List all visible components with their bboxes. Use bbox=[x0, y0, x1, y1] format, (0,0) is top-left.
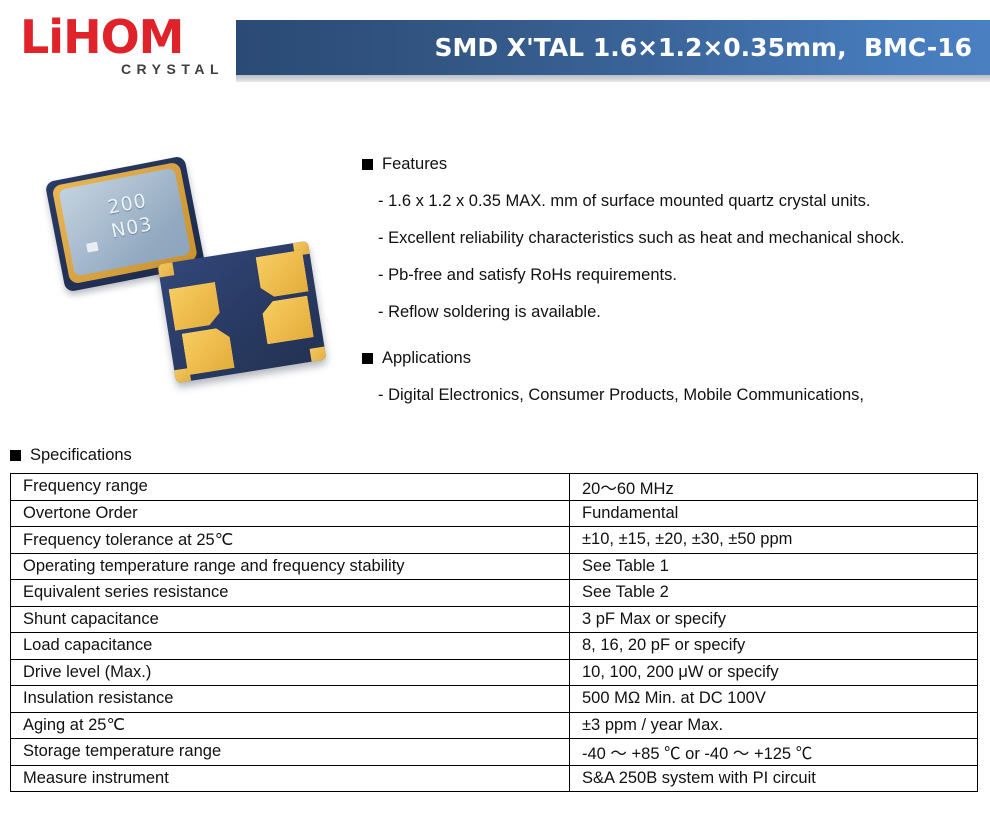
specifications-heading-label: Specifications bbox=[30, 446, 132, 465]
spec-label: Shunt capacitance bbox=[11, 606, 570, 633]
list-item: - Reflow soldering is available. bbox=[362, 303, 987, 322]
title-banner: SMD X'TAL 1.6×1.2×0.35mm, BMC-16 bbox=[236, 20, 990, 75]
list-item: - 1.6 x 1.2 x 0.35 MAX. mm of surface mo… bbox=[362, 192, 987, 211]
specifications-table: Frequency range 20～60 MHz Overtone Order… bbox=[10, 473, 978, 792]
spec-label: Load capacitance bbox=[11, 633, 570, 660]
applications-heading-label: Applications bbox=[382, 349, 471, 368]
square-bullet-icon bbox=[362, 159, 373, 170]
table-row: Frequency tolerance at 25℃ ±10, ±15, ±20… bbox=[11, 527, 978, 554]
spec-label: Insulation resistance bbox=[11, 686, 570, 713]
spec-value: ±3 ppm / year Max. bbox=[570, 712, 978, 739]
list-item: - Pb-free and satisfy RoHs requirements. bbox=[362, 266, 987, 285]
spec-label: Equivalent series resistance bbox=[11, 580, 570, 607]
features-heading-label: Features bbox=[382, 155, 447, 174]
features-list: - 1.6 x 1.2 x 0.35 MAX. mm of surface mo… bbox=[362, 192, 987, 322]
spec-label: Frequency range bbox=[11, 474, 570, 501]
spec-value: 20～60 MHz bbox=[570, 474, 978, 501]
spec-label: Aging at 25℃ bbox=[11, 712, 570, 739]
table-row: Overtone Order Fundamental bbox=[11, 500, 978, 527]
logo-wordmark: LiHOM bbox=[14, 14, 226, 60]
specifications-heading: Specifications bbox=[10, 446, 132, 465]
spec-value: 10, 100, 200 μW or specify bbox=[570, 659, 978, 686]
spec-label: Storage temperature range bbox=[11, 739, 570, 766]
page-title: SMD X'TAL 1.6×1.2×0.35mm, BMC-16 bbox=[434, 33, 972, 62]
spec-label: Drive level (Max.) bbox=[11, 659, 570, 686]
page-header: LiHOM CRYSTAL SMD X'TAL 1.6×1.2×0.35mm, … bbox=[0, 0, 990, 95]
table-row: Shunt capacitance 3 pF Max or specify bbox=[11, 606, 978, 633]
table-row: Insulation resistance 500 MΩ Min. at DC … bbox=[11, 686, 978, 713]
square-bullet-icon bbox=[10, 450, 21, 461]
table-row: Drive level (Max.) 10, 100, 200 μW or sp… bbox=[11, 659, 978, 686]
crystal-package-bottom-view bbox=[158, 241, 327, 383]
spec-label: Overtone Order bbox=[11, 500, 570, 527]
spec-value: Fundamental bbox=[570, 500, 978, 527]
castellation-top-left bbox=[158, 262, 175, 277]
company-logo: LiHOM CRYSTAL bbox=[14, 14, 226, 80]
spec-value: S&A 250B system with PI circuit bbox=[570, 765, 978, 792]
table-row: Storage temperature range -40 ～ +85 ℃ or… bbox=[11, 739, 978, 766]
table-row: Frequency range 20～60 MHz bbox=[11, 474, 978, 501]
spec-label: Measure instrument bbox=[11, 765, 570, 792]
banner-shadow bbox=[236, 75, 990, 82]
spec-label: Operating temperature range and frequenc… bbox=[11, 553, 570, 580]
applications-list: - Digital Electronics, Consumer Products… bbox=[362, 386, 987, 405]
spec-label: Frequency tolerance at 25℃ bbox=[11, 527, 570, 554]
table-row: Load capacitance 8, 16, 20 pF or specify bbox=[11, 633, 978, 660]
spec-value: 500 MΩ Min. at DC 100V bbox=[570, 686, 978, 713]
product-photo: 200 N03 bbox=[44, 168, 344, 390]
table-row: Aging at 25℃ ±3 ppm / year Max. bbox=[11, 712, 978, 739]
spec-value: ±10, ±15, ±20, ±30, ±50 ppm bbox=[570, 527, 978, 554]
castellation-bottom-right bbox=[310, 347, 327, 362]
list-item: - Digital Electronics, Consumer Products… bbox=[362, 386, 987, 405]
info-block: Features - 1.6 x 1.2 x 0.35 MAX. mm of s… bbox=[362, 155, 987, 405]
table-row: Equivalent series resistance See Table 2 bbox=[11, 580, 978, 607]
spec-value: -40 ～ +85 ℃ or -40 ～ +125 ℃ bbox=[570, 739, 978, 766]
pin-one-marker-icon bbox=[86, 242, 99, 253]
applications-heading: Applications bbox=[362, 349, 987, 368]
square-bullet-icon bbox=[362, 353, 373, 364]
features-heading: Features bbox=[362, 155, 987, 174]
spec-value: 8, 16, 20 pF or specify bbox=[570, 633, 978, 660]
spec-value: See Table 2 bbox=[570, 580, 978, 607]
list-item: - Excellent reliability characteristics … bbox=[362, 229, 987, 248]
table-row: Operating temperature range and frequenc… bbox=[11, 553, 978, 580]
spec-value: 3 pF Max or specify bbox=[570, 606, 978, 633]
spec-value: See Table 1 bbox=[570, 553, 978, 580]
table-row: Measure instrument S&A 250B system with … bbox=[11, 765, 978, 792]
